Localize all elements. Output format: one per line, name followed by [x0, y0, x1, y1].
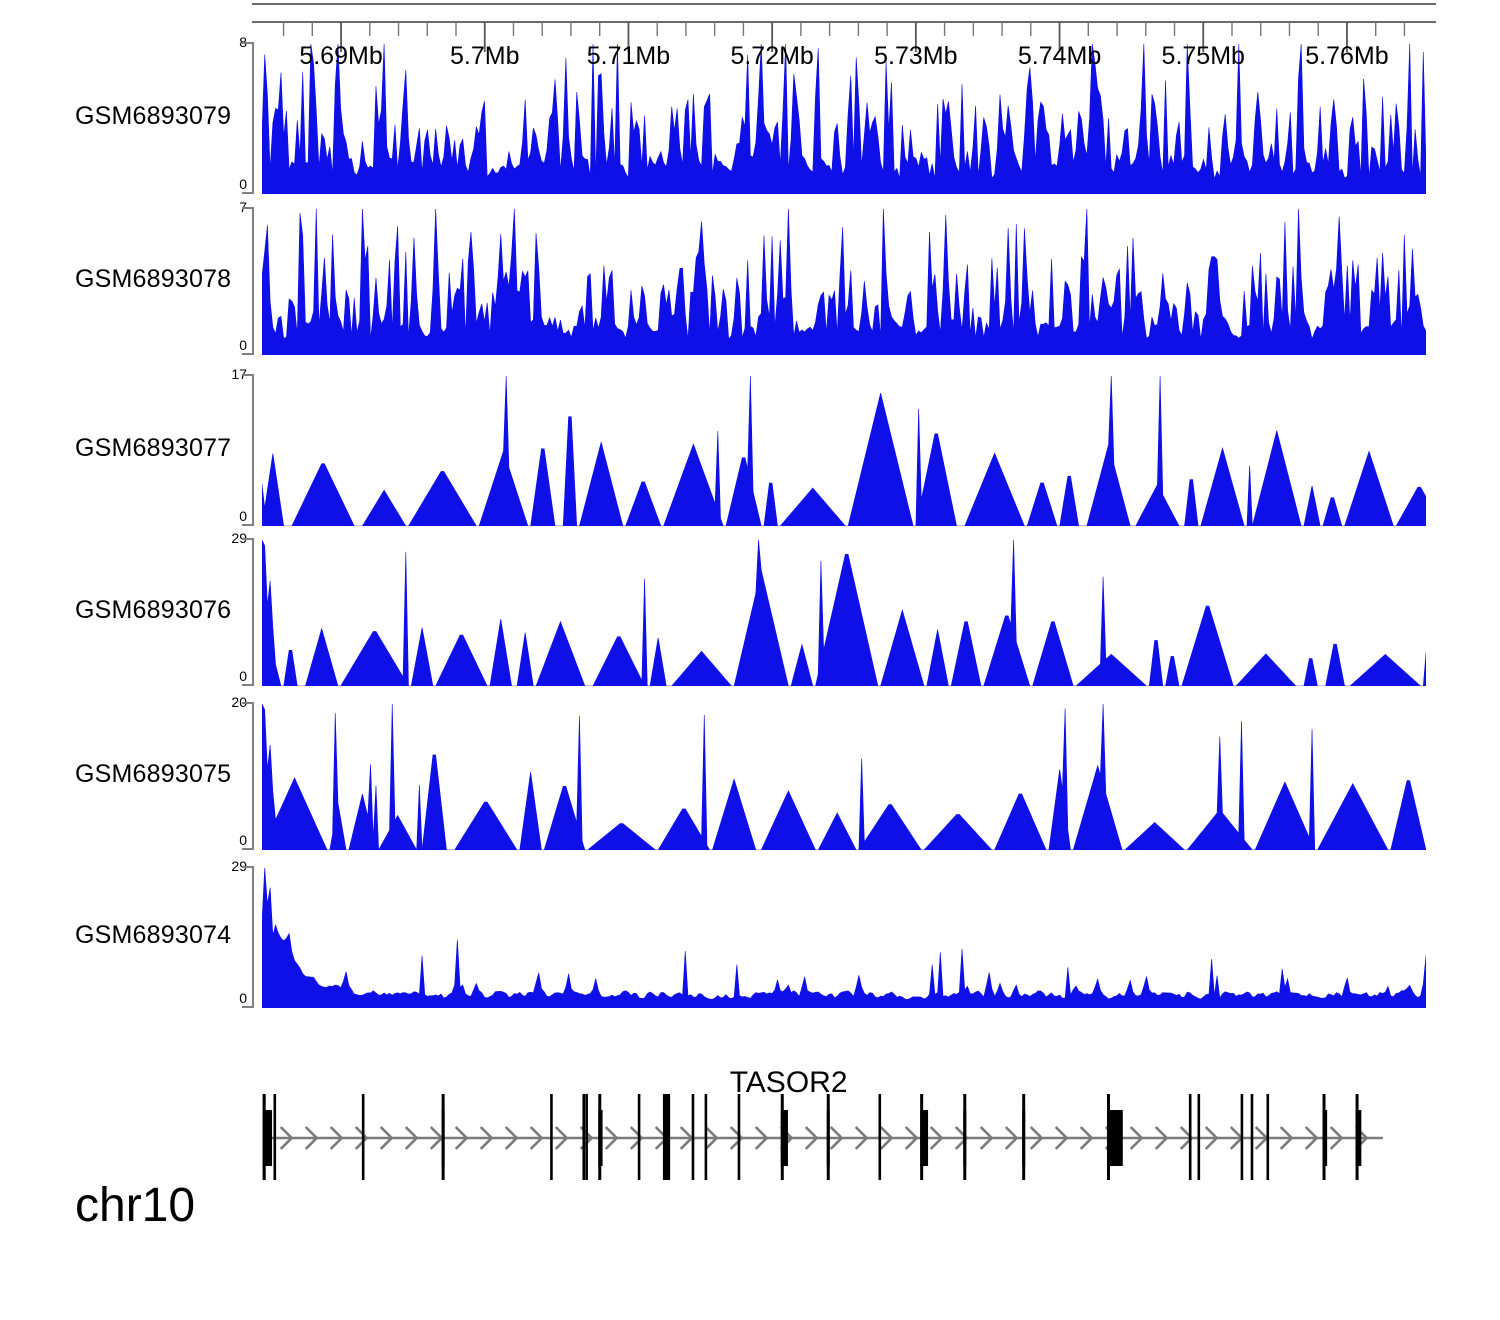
exon-edge-marker: [920, 1094, 923, 1180]
axis-tick-max: [242, 374, 253, 376]
axis-vertical-line: [252, 866, 254, 1008]
track-label: GSM6893078: [75, 265, 231, 294]
exon-utr-marker: [263, 1094, 266, 1180]
coverage-track-GSM6893075: GSM6893075200: [0, 702, 1500, 850]
exon-utr-marker: [705, 1094, 708, 1180]
axis-tick-min: [242, 848, 253, 850]
track-label: GSM6893077: [75, 434, 231, 463]
axis-min-label: 0: [215, 337, 247, 353]
axis-tick-min: [242, 524, 253, 526]
axis-tick-max: [242, 538, 253, 540]
axis-tick-label: 5.69Mb: [299, 42, 382, 71]
axis-vertical-line: [252, 702, 254, 850]
exon-utr-marker: [738, 1094, 741, 1180]
axis-tick-label: 5.72Mb: [730, 42, 813, 71]
track-label: GSM6893075: [75, 760, 231, 789]
axis-tick-min: [242, 684, 253, 686]
axis-tick-label: 5.74Mb: [1018, 42, 1101, 71]
exon-utr-marker: [550, 1094, 553, 1180]
axis-tick-max: [242, 207, 253, 209]
exon-utr-marker: [362, 1094, 365, 1180]
axis-vertical-line: [252, 374, 254, 526]
exon-utr-marker: [638, 1094, 641, 1180]
exon-utr-marker: [273, 1094, 276, 1180]
axis-vertical-line: [252, 538, 254, 686]
genome-axis: 5.69Mb5.7Mb5.71Mb5.72Mb5.73Mb5.74Mb5.75M…: [0, 0, 1500, 60]
coverage-area-plot: [262, 538, 1426, 686]
axis-tick-min: [242, 1006, 253, 1008]
exon-edge-marker: [1356, 1094, 1359, 1180]
exon-edge-marker: [1022, 1094, 1025, 1180]
exon-edge-marker: [598, 1094, 601, 1180]
track-label: GSM6893079: [75, 102, 231, 131]
exon-utr-marker: [1266, 1094, 1269, 1180]
exon-edge-marker: [1107, 1094, 1110, 1180]
coverage-track-GSM6893074: GSM6893074290: [0, 866, 1500, 1008]
axis-vertical-line: [252, 207, 254, 355]
gene-model-graphic: [0, 1060, 1500, 1180]
axis-tick-max: [242, 866, 253, 868]
axis-min-label: 0: [215, 832, 247, 848]
axis-min-label: 0: [215, 990, 247, 1006]
exon-utr-marker: [1241, 1094, 1244, 1180]
exon-utr-marker: [1198, 1094, 1201, 1180]
exon-edge-marker: [1323, 1094, 1326, 1180]
axis-tick-max: [242, 702, 253, 704]
coverage-area-plot: [262, 207, 1426, 355]
exon-edge-marker: [963, 1094, 966, 1180]
axis-tick-label: 5.75Mb: [1162, 42, 1245, 71]
exon-utr-marker: [663, 1094, 666, 1180]
exon-utr-marker: [1251, 1094, 1254, 1180]
coverage-area-plot: [262, 866, 1426, 1008]
track-label: GSM6893074: [75, 921, 231, 950]
axis-tick-label: 5.73Mb: [874, 42, 957, 71]
exon-utr-marker: [878, 1094, 881, 1180]
axis-tick-label: 5.76Mb: [1305, 42, 1388, 71]
exon-edge-marker: [781, 1094, 784, 1180]
coverage-area-plot: [262, 42, 1426, 194]
coverage-area-plot: [262, 374, 1426, 526]
exon-utr-marker: [668, 1094, 671, 1180]
coverage-track-GSM6893078: GSM689307870: [0, 207, 1500, 355]
gene-annotation-track: TASOR2: [0, 1060, 1500, 1180]
coverage-area-plot: [262, 702, 1426, 850]
exon-utr-marker: [585, 1094, 588, 1180]
axis-tick-label: 5.71Mb: [587, 42, 670, 71]
axis-tick-min: [242, 192, 253, 194]
track-label: GSM6893076: [75, 596, 231, 625]
axis-tick-label: 5.7Mb: [450, 42, 519, 71]
genome-browser-view: GSM689307980GSM689307870GSM6893077170GSM…: [0, 0, 1500, 1320]
axis-vertical-line: [252, 42, 254, 194]
exon-utr-marker: [692, 1094, 695, 1180]
exon-utr-marker: [1189, 1094, 1192, 1180]
exon-edge-marker: [442, 1094, 445, 1180]
axis-min-label: 0: [215, 668, 247, 684]
axis-tick-min: [242, 353, 253, 355]
coverage-track-GSM6893077: GSM6893077170: [0, 374, 1500, 526]
exon-utr-marker: [582, 1094, 585, 1180]
chromosome-label: chr10: [75, 1178, 195, 1233]
axis-min-label: 0: [215, 508, 247, 524]
coverage-track-GSM6893076: GSM6893076290: [0, 538, 1500, 686]
axis-min-label: 0: [215, 176, 247, 192]
exon-edge-marker: [827, 1094, 830, 1180]
